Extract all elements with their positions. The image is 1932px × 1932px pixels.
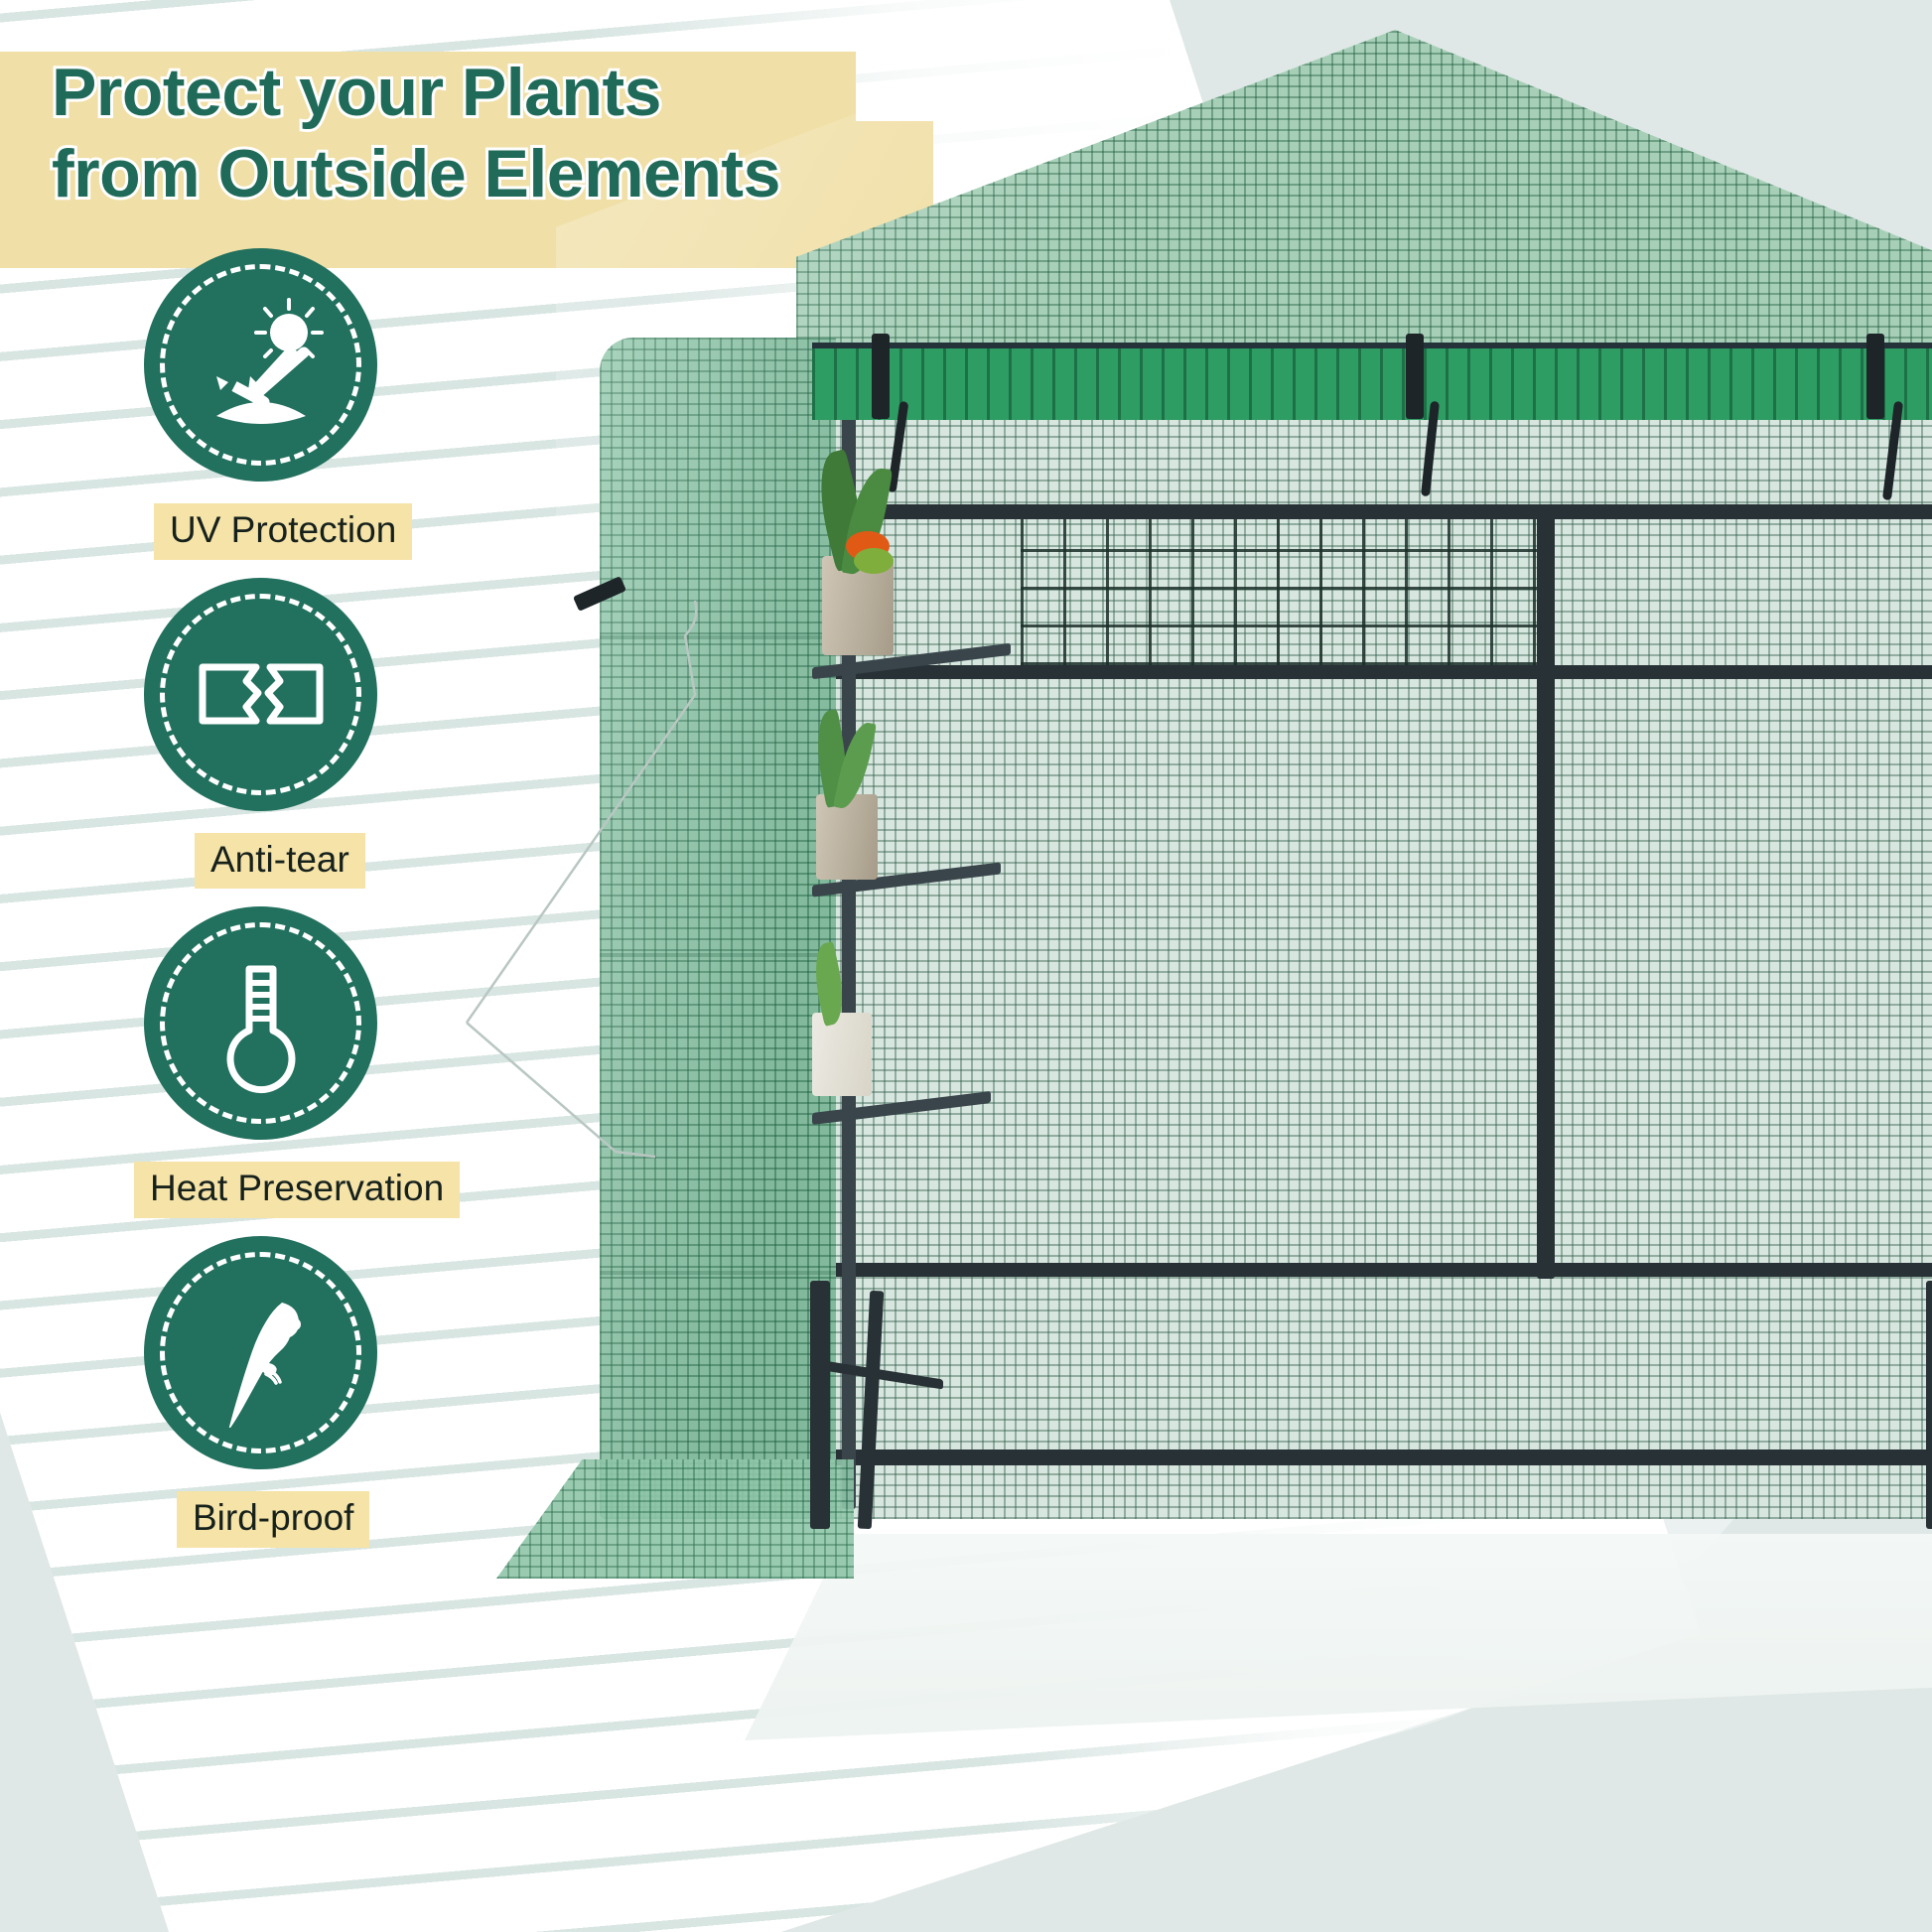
frame-bar-top-rail xyxy=(800,504,1932,519)
side-wall-seam xyxy=(600,635,836,639)
frame-bar-lower-rail xyxy=(800,1263,1932,1277)
greenhouse-product-image xyxy=(556,0,1932,1932)
title-line-1: Protect your Plants xyxy=(52,52,1044,133)
greenhouse-side-wall xyxy=(600,338,836,1519)
vent-strap xyxy=(872,334,890,419)
side-wall-seam xyxy=(600,1271,836,1275)
thermometer-icon xyxy=(187,949,336,1098)
anti-tear-badge xyxy=(144,578,377,811)
side-wall-shading xyxy=(600,338,836,1519)
wire-mesh-window xyxy=(1021,516,1537,665)
feature-anti-tear: Anti-tear xyxy=(0,578,516,890)
feature-label-uv-protection: UV Protection xyxy=(154,503,412,560)
floor-highlight xyxy=(745,1534,1932,1931)
side-wall-seam xyxy=(600,953,836,957)
frame-leg-right xyxy=(1926,1281,1932,1529)
feature-label-anti-tear: Anti-tear xyxy=(195,833,365,890)
feature-bird-proof: Bird-proof xyxy=(0,1236,516,1548)
frame-leg-left xyxy=(810,1281,830,1529)
uv-protection-badge xyxy=(144,248,377,482)
frame-bar-base-rail xyxy=(800,1449,1932,1465)
feature-heat-preservation: Heat Preservation xyxy=(0,906,516,1218)
frame-post-center xyxy=(1537,504,1555,1279)
plant-pot xyxy=(816,794,878,880)
page-title: Protect your Plants from Outside Element… xyxy=(52,52,1044,214)
plant-foliage xyxy=(854,548,894,574)
feature-list: UV Protection Anti-tear xyxy=(0,248,516,1566)
sun-rays-reflect-icon xyxy=(187,291,336,440)
heat-preservation-badge xyxy=(144,906,377,1140)
infographic-canvas: Protect your Plants from Outside Element… xyxy=(0,0,1932,1932)
vent-strap xyxy=(1866,334,1884,419)
roll-up-window-flap[interactable] xyxy=(812,343,1932,420)
plant-pot xyxy=(812,1013,872,1096)
parakeet-bird-icon xyxy=(187,1279,336,1428)
feature-label-bird-proof: Bird-proof xyxy=(177,1491,369,1548)
torn-fabric-icon xyxy=(187,620,336,768)
frame-bar-mid-rail xyxy=(800,665,1932,679)
title-line-2: from Outside Elements xyxy=(52,133,1044,214)
vent-strap xyxy=(1406,334,1424,419)
bird-proof-badge xyxy=(144,1236,377,1469)
feature-uv-protection: UV Protection xyxy=(0,248,516,560)
feature-label-heat-preservation: Heat Preservation xyxy=(134,1162,460,1218)
